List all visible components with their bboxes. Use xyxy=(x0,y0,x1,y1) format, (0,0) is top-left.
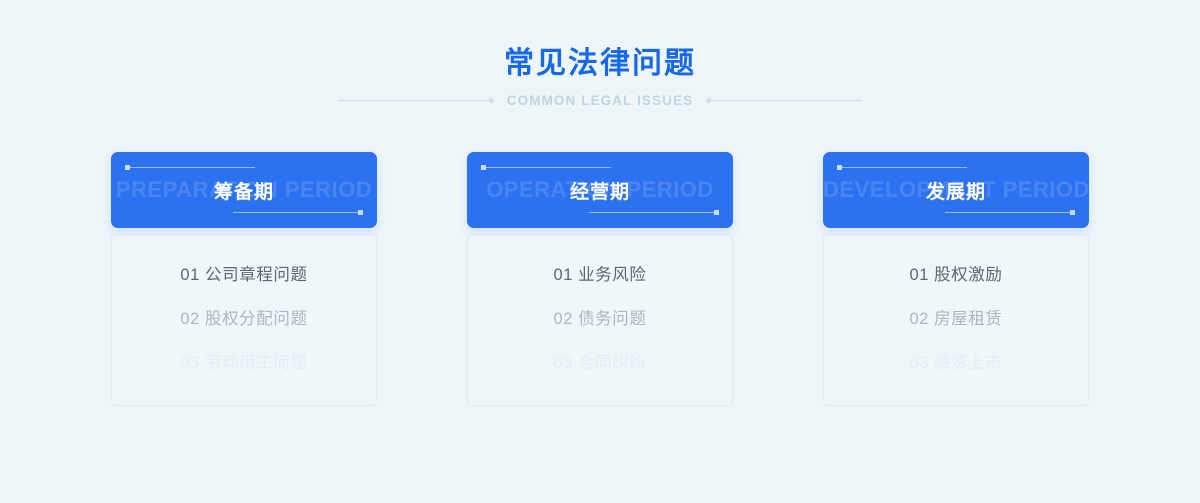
card-header[interactable]: OPERATION PERIOD 经营期 xyxy=(467,152,733,228)
list-item-number: 02 xyxy=(180,310,200,328)
list-item-number: 02 xyxy=(554,310,574,328)
list-item-label: 业务风险 xyxy=(578,266,646,284)
subtitle-decoration-left xyxy=(338,96,493,105)
list-item-number: 03 xyxy=(180,354,200,372)
list-item-number: 01 xyxy=(910,266,930,284)
decoration-square-icon xyxy=(837,165,842,170)
list-item-label: 劳动用工问题 xyxy=(205,354,308,372)
decoration-square-icon xyxy=(481,165,486,170)
page-header: 常见法律问题 COMMON LEGAL ISSUES xyxy=(0,0,1200,108)
list-item-number: 01 xyxy=(554,266,574,284)
decoration-line xyxy=(338,100,493,101)
decoration-line xyxy=(130,167,255,168)
card-body: 01股权激励 02房屋租赁 03融资上市 xyxy=(823,234,1089,406)
list-item[interactable]: 03合同纠纷 xyxy=(468,351,732,375)
list-item-number: 03 xyxy=(910,354,930,372)
list-item-label: 融资上市 xyxy=(934,354,1002,372)
decoration-line xyxy=(486,167,611,168)
card-header[interactable]: DEVELOPMENT PERIOD 发展期 xyxy=(823,152,1089,228)
list-item[interactable]: 02股权分配问题 xyxy=(112,307,376,331)
list-item[interactable]: 01股权激励 xyxy=(824,263,1088,287)
decoration-square-icon xyxy=(1070,210,1075,215)
list-item[interactable]: 02房屋租赁 xyxy=(824,307,1088,331)
list-item[interactable]: 03劳动用工问题 xyxy=(112,351,376,375)
card-body: 01业务风险 02债务问题 03合同纠纷 xyxy=(467,234,733,406)
card-title: 筹备期 xyxy=(214,177,274,204)
list-item[interactable]: 03融资上市 xyxy=(824,351,1088,375)
page-title: 常见法律问题 xyxy=(0,44,1200,84)
header-decoration-bottom xyxy=(945,210,1075,215)
cards-row: PREPARATION PERIOD 筹备期 01公司章程问题 02股权分配问题… xyxy=(0,152,1200,406)
decoration-square-icon xyxy=(714,210,719,215)
card-title: 经营期 xyxy=(570,177,630,204)
decoration-dot-icon xyxy=(705,97,712,104)
list-item-label: 公司章程问题 xyxy=(205,266,308,284)
list-item-number: 03 xyxy=(554,354,574,372)
decoration-line xyxy=(589,212,714,213)
card-development-period[interactable]: DEVELOPMENT PERIOD 发展期 01股权激励 02房屋租赁 03融… xyxy=(823,152,1089,406)
list-item-label: 房屋租赁 xyxy=(934,310,1002,328)
list-item-number: 02 xyxy=(910,310,930,328)
decoration-square-icon xyxy=(358,210,363,215)
header-decoration-top xyxy=(481,165,611,170)
list-item-label: 债务问题 xyxy=(578,310,646,328)
list-item-label: 合同纠纷 xyxy=(578,354,646,372)
list-item-number: 01 xyxy=(180,266,200,284)
header-decoration-top xyxy=(125,165,255,170)
page-subtitle: COMMON LEGAL ISSUES xyxy=(507,93,693,108)
header-decoration-bottom xyxy=(233,210,363,215)
header-decoration-top xyxy=(837,165,967,170)
decoration-dot-icon xyxy=(488,97,495,104)
header-decoration-bottom xyxy=(589,210,719,215)
decoration-line xyxy=(707,100,862,101)
decoration-line xyxy=(945,212,1070,213)
card-operation-period[interactable]: OPERATION PERIOD 经营期 01业务风险 02债务问题 03合同纠… xyxy=(467,152,733,406)
decoration-line xyxy=(842,167,967,168)
list-item[interactable]: 01业务风险 xyxy=(468,263,732,287)
subtitle-row: COMMON LEGAL ISSUES xyxy=(0,93,1200,108)
decoration-line xyxy=(233,212,358,213)
list-item-label: 股权分配问题 xyxy=(205,310,308,328)
card-title: 发展期 xyxy=(926,177,986,204)
subtitle-decoration-right xyxy=(707,96,862,105)
card-preparation-period[interactable]: PREPARATION PERIOD 筹备期 01公司章程问题 02股权分配问题… xyxy=(111,152,377,406)
card-body: 01公司章程问题 02股权分配问题 03劳动用工问题 xyxy=(111,234,377,406)
list-item-label: 股权激励 xyxy=(934,266,1002,284)
list-item[interactable]: 02债务问题 xyxy=(468,307,732,331)
decoration-square-icon xyxy=(125,165,130,170)
list-item[interactable]: 01公司章程问题 xyxy=(112,263,376,287)
card-header[interactable]: PREPARATION PERIOD 筹备期 xyxy=(111,152,377,228)
